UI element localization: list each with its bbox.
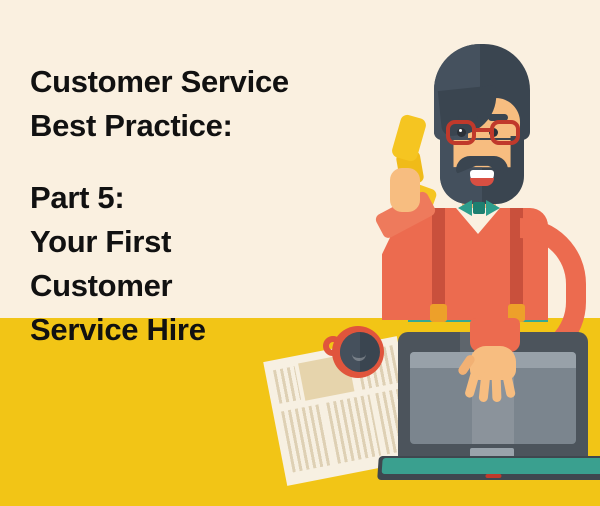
subhead-line-3: Customer: [30, 264, 380, 308]
eyeglass-lens-left: [446, 120, 476, 145]
headline-line-1: Customer Service: [30, 60, 380, 104]
subhead-line-2: Your First: [30, 220, 380, 264]
laptop-keyboard: [382, 458, 600, 474]
laptop-base: [377, 456, 600, 480]
finger: [478, 372, 490, 403]
newspaper-text-column: [273, 366, 301, 404]
character-head: [434, 44, 530, 202]
newspaper-text-column: [281, 404, 332, 472]
suspender-clip-left: [430, 304, 447, 322]
newspaper-text-column: [326, 394, 381, 463]
text-spacer: [30, 148, 380, 176]
finger: [491, 372, 501, 402]
bow-tie-knot: [473, 202, 485, 214]
eyeglass-lens-right: [490, 120, 520, 145]
subhead-line-4: Service Hire: [30, 308, 380, 352]
eyeglass-bridge: [475, 128, 491, 132]
subhead-line-1: Part 5:: [30, 176, 380, 220]
bow-tie: [458, 200, 500, 216]
poster-image: Customer Service Best Practice: Part 5: …: [0, 0, 600, 506]
eyeglasses-icon: [446, 120, 520, 146]
hand-on-laptop: [462, 346, 524, 410]
laptop-touchpad-accent: [485, 474, 501, 478]
headline-line-2: Best Practice:: [30, 104, 380, 148]
bow-tie-left-wing: [458, 200, 472, 216]
poster-text-block: Customer Service Best Practice: Part 5: …: [30, 60, 380, 352]
hand-holding-phone: [390, 168, 420, 212]
bow-tie-right-wing: [486, 200, 500, 216]
